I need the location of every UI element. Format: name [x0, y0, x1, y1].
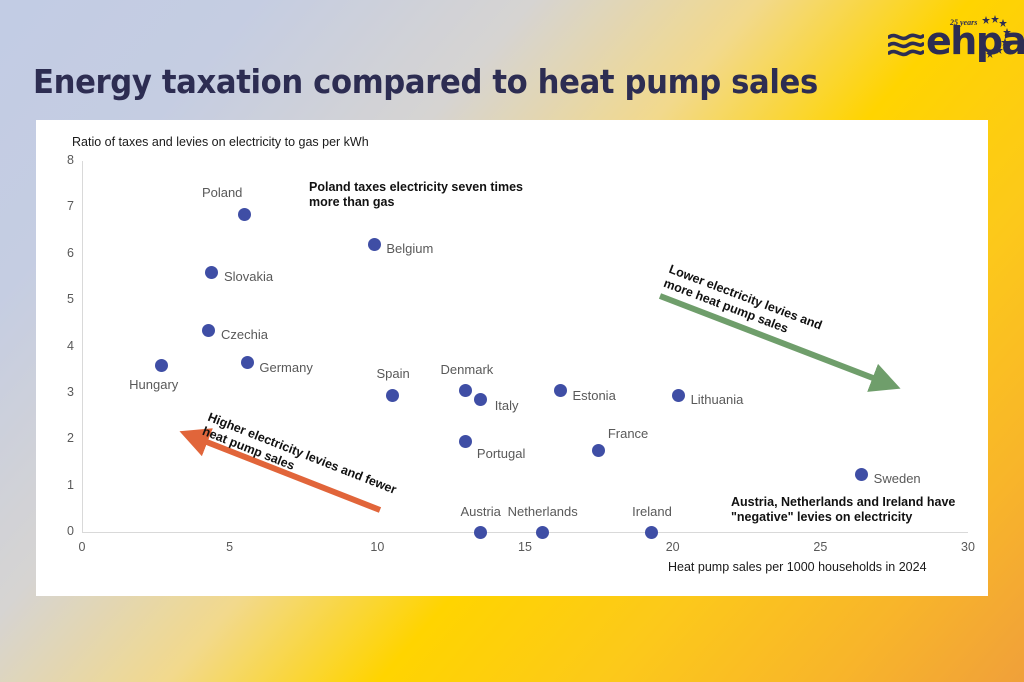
data-point-label: Poland [202, 185, 242, 200]
data-point-label: Czechia [221, 327, 268, 342]
data-point[interactable] [855, 468, 868, 481]
y-tick-label: 0 [52, 524, 74, 538]
x-tick-label: 10 [362, 540, 392, 554]
data-point[interactable] [155, 359, 168, 372]
data-point[interactable] [672, 389, 685, 402]
y-tick-label: 6 [52, 246, 74, 260]
data-point[interactable] [554, 384, 567, 397]
data-point-label: Portugal [477, 446, 525, 461]
data-point-label: Austria [460, 504, 500, 519]
x-axis-title: Heat pump sales per 1000 households in 2… [668, 560, 927, 574]
lower-levies-arrow-label: Lower electricity levies and more heat p… [661, 262, 824, 348]
x-tick-label: 30 [953, 540, 983, 554]
data-point[interactable] [645, 526, 658, 539]
data-point-label: Germany [259, 360, 312, 375]
page-title: Energy taxation compared to heat pump sa… [33, 62, 818, 101]
y-tick-label: 3 [52, 385, 74, 399]
y-tick-label: 7 [52, 199, 74, 213]
y-tick-label: 2 [52, 431, 74, 445]
data-point[interactable] [592, 444, 605, 457]
data-point[interactable] [474, 393, 487, 406]
y-tick-label: 1 [52, 478, 74, 492]
data-point-label: Hungary [129, 377, 178, 392]
data-point[interactable] [241, 356, 254, 369]
data-point[interactable] [202, 324, 215, 337]
data-point-label: Italy [495, 398, 519, 413]
x-tick-label: 0 [67, 540, 97, 554]
x-axis-line [82, 532, 968, 533]
data-point-label: Ireland [632, 504, 672, 519]
y-axis-line [82, 161, 83, 533]
x-tick-label: 20 [658, 540, 688, 554]
y-axis-title: Ratio of taxes and levies on electricity… [72, 135, 369, 149]
data-point-label: Slovakia [224, 269, 273, 284]
data-point-label: France [608, 426, 648, 441]
y-tick-label: 4 [52, 339, 74, 353]
data-point-label: Sweden [874, 471, 921, 486]
data-point[interactable] [459, 435, 472, 448]
y-tick-label: 8 [52, 153, 74, 167]
data-point[interactable] [368, 238, 381, 251]
data-point[interactable] [536, 526, 549, 539]
data-point-label: Denmark [441, 362, 494, 377]
eu-stars-icon [970, 14, 1012, 62]
ehpa-logo: ehpa 25 years [888, 14, 1012, 66]
higher-levies-arrow-label: Higher electricity levies and fewer heat… [200, 410, 398, 512]
negative-levies-callout: Austria, Netherlands and Ireland have "n… [731, 495, 955, 525]
data-point-label: Lithuania [691, 392, 744, 407]
poland-callout: Poland taxes electricity seven times mor… [309, 180, 523, 210]
ehpa-waves-icon [888, 32, 924, 58]
data-point-label: Spain [376, 366, 409, 381]
data-point[interactable] [238, 208, 251, 221]
x-tick-label: 15 [510, 540, 540, 554]
data-point[interactable] [474, 526, 487, 539]
data-point-label: Netherlands [508, 504, 578, 519]
chart-panel: Ratio of taxes and levies on electricity… [36, 120, 988, 596]
data-point[interactable] [459, 384, 472, 397]
y-tick-label: 5 [52, 292, 74, 306]
data-point-label: Belgium [386, 241, 433, 256]
data-point[interactable] [205, 266, 218, 279]
x-tick-label: 25 [805, 540, 835, 554]
scatter-plot: Ratio of taxes and levies on electricity… [36, 120, 988, 596]
data-point[interactable] [386, 389, 399, 402]
data-point-label: Estonia [572, 388, 615, 403]
x-tick-label: 5 [215, 540, 245, 554]
